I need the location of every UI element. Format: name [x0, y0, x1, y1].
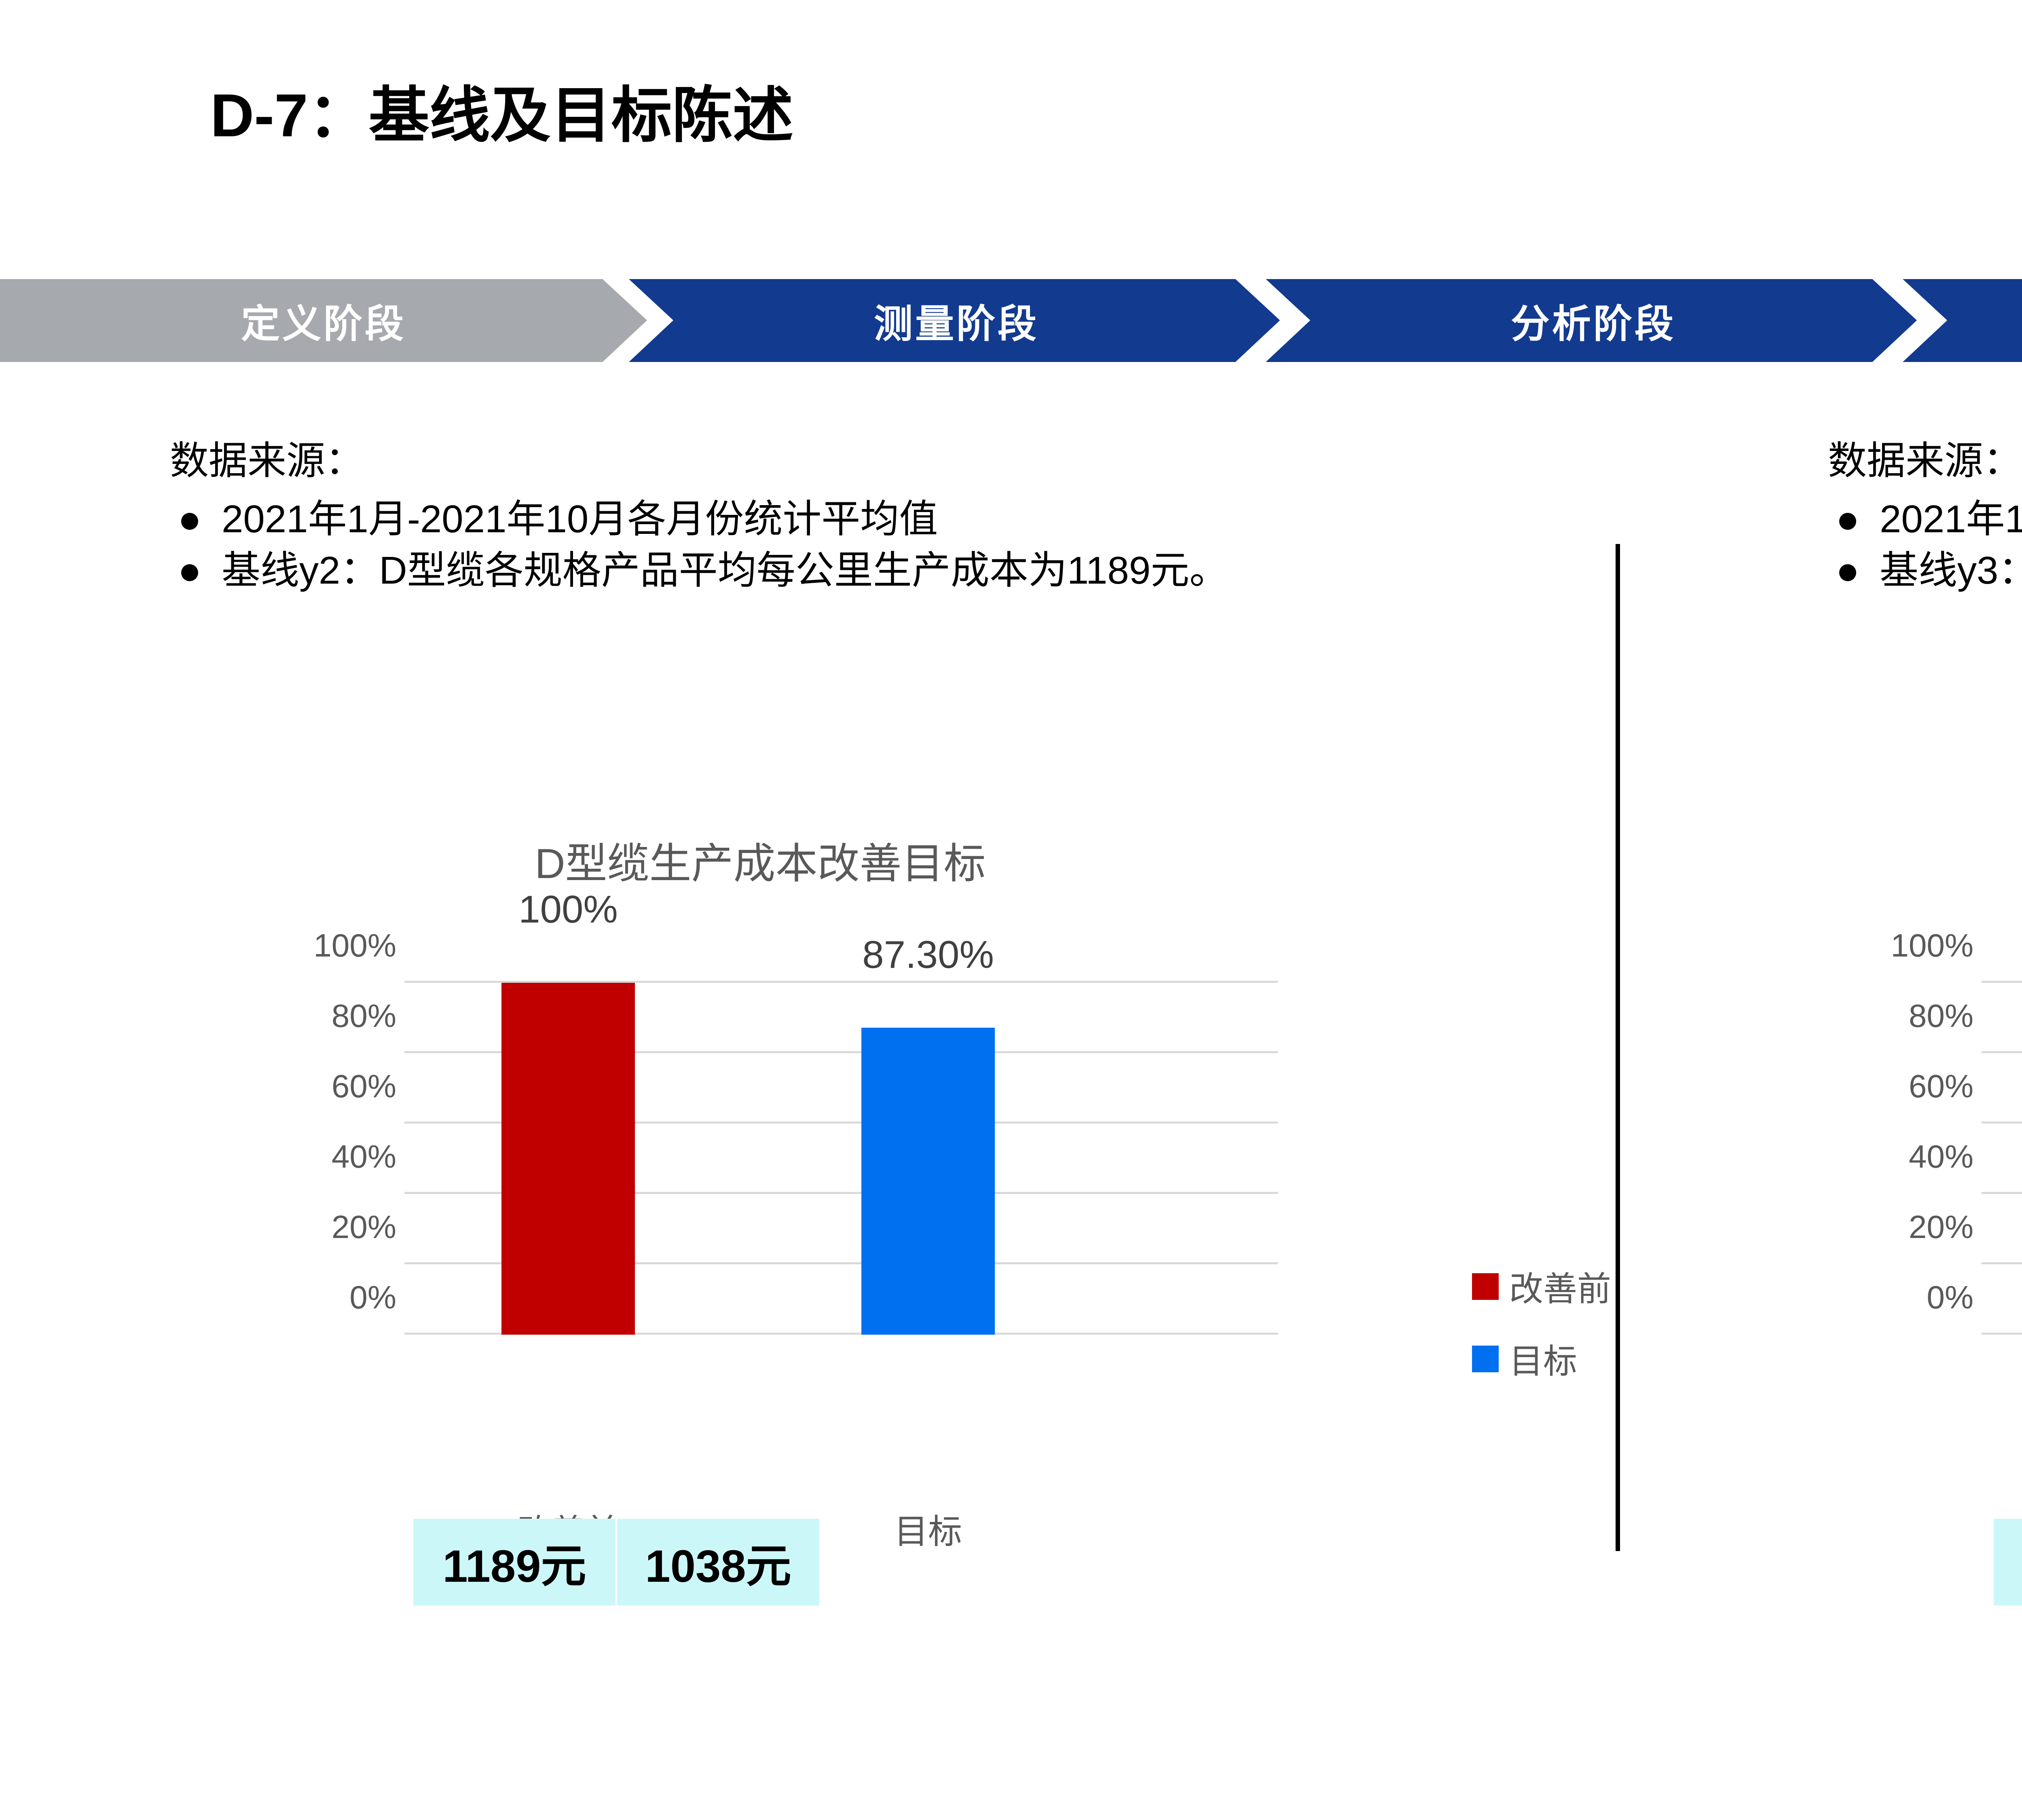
- right-value-box-row: 992元 863元: [1994, 1519, 2022, 1606]
- gridline: [1982, 1192, 2022, 1194]
- list-item: 2021年1月-2021年10月各月份统计平均值: [1828, 495, 2022, 544]
- loss-cost-chart: D型缆损耗改善目标 0% 20% 40% 60% 80% 100% 100% 8…: [1820, 829, 2022, 1541]
- y-axis-tick: 0%: [235, 1279, 396, 1316]
- legend-item-before[interactable]: 改善前: [1472, 1262, 1611, 1311]
- gridline: [1982, 1262, 2022, 1264]
- legend-swatch-icon: [1472, 1346, 1499, 1372]
- bar-value-label: 100%: [518, 887, 618, 932]
- value-box-before: 992元: [1994, 1519, 2022, 1606]
- chart-title: D型缆损耗改善目标: [1820, 829, 2022, 890]
- chart-plot-area: 0% 20% 40% 60% 80% 100% 100% 87.30% 改善前 …: [404, 983, 1278, 1335]
- y-axis-tick: 100%: [235, 927, 396, 964]
- phase-item-analyze[interactable]: 分析阶段: [1266, 279, 1921, 362]
- phase-item-improve[interactable]: 改进阶段: [1903, 279, 2022, 362]
- gridline: [1982, 981, 2022, 983]
- list-item: 基线y2：D型缆各规格产品平均每公里生产成本为1189元。: [170, 546, 1626, 595]
- bar-target[interactable]: [861, 1028, 995, 1335]
- chart-plot-area: 0% 20% 40% 60% 80% 100% 100% 87.00% 改善前 …: [1982, 983, 2022, 1335]
- y-axis-tick: 20%: [1812, 1208, 1973, 1246]
- left-value-box-row: 1189元 1038元: [413, 1519, 819, 1606]
- left-bullet-list: 2021年1月-2021年10月各月份统计平均值 基线y2：D型缆各规格产品平均…: [170, 495, 1626, 595]
- bar-before[interactable]: [501, 983, 635, 1335]
- legend-swatch-icon: [1472, 1273, 1499, 1300]
- y-axis-tick: 20%: [235, 1208, 396, 1246]
- phase-label: 测量阶段: [874, 292, 1039, 349]
- phase-item-measure[interactable]: 测量阶段: [629, 279, 1284, 362]
- legend-label: 目标: [1509, 1334, 1577, 1383]
- chart-legend: 改善前 目标: [1472, 1262, 1611, 1407]
- left-panel-text: 数据来源： 2021年1月-2021年10月各月份统计平均值 基线y2：D型缆各…: [170, 437, 1626, 598]
- right-bullet-list: 2021年1月-2021年10月各月份统计平均值 基线y3：D型缆各规格产品平均…: [1828, 495, 2022, 595]
- y-axis-tick: 0%: [1812, 1279, 1973, 1316]
- bar-value-label: 87.30%: [862, 933, 994, 977]
- phase-label: 分析阶段: [1511, 292, 1676, 349]
- y-axis-tick: 60%: [235, 1068, 396, 1105]
- y-axis-tick: 40%: [235, 1138, 396, 1175]
- data-source-heading: 数据来源：: [170, 437, 1626, 485]
- right-panel-text: 数据来源： 2021年1月-2021年10月各月份统计平均值 基线y3：D型缆各…: [1828, 437, 2022, 598]
- value-box-target: 1038元: [617, 1519, 819, 1606]
- phase-banner: 定义阶段 测量阶段 分析阶段 改进阶段 控制阶段: [0, 279, 2022, 362]
- x-axis-tick: 目标: [787, 1505, 1070, 1553]
- y-axis-tick: 100%: [1812, 927, 1973, 964]
- y-axis-tick: 40%: [1812, 1138, 1973, 1175]
- legend-item-target[interactable]: 目标: [1472, 1334, 1611, 1383]
- list-item: 基线y3：D型缆各规格产品平均每公里损耗成本为992元。: [1828, 546, 2022, 595]
- y-axis-tick: 80%: [235, 997, 396, 1035]
- phase-item-define[interactable]: 定义阶段: [0, 279, 647, 362]
- page-title: D-7：基线及目标陈述: [210, 85, 793, 146]
- y-axis-tick: 80%: [1812, 997, 1973, 1035]
- value-box-before: 1189元: [413, 1519, 617, 1606]
- legend-label: 改善前: [1509, 1262, 1611, 1311]
- chart-title: D型缆生产成本改善目标: [243, 829, 1278, 890]
- gridline: [1982, 1122, 2022, 1124]
- production-cost-chart: D型缆生产成本改善目标 0% 20% 40% 60% 80% 100% 100%…: [243, 829, 1496, 1541]
- phase-label: 定义阶段: [241, 292, 406, 349]
- y-axis-tick: 60%: [1812, 1068, 1973, 1105]
- gridline: [1982, 1333, 2022, 1335]
- list-item: 2021年1月-2021年10月各月份统计平均值: [170, 495, 1626, 544]
- panel-divider: [1616, 544, 1620, 1551]
- gridline: [1982, 1051, 2022, 1053]
- data-source-heading: 数据来源：: [1828, 437, 2022, 485]
